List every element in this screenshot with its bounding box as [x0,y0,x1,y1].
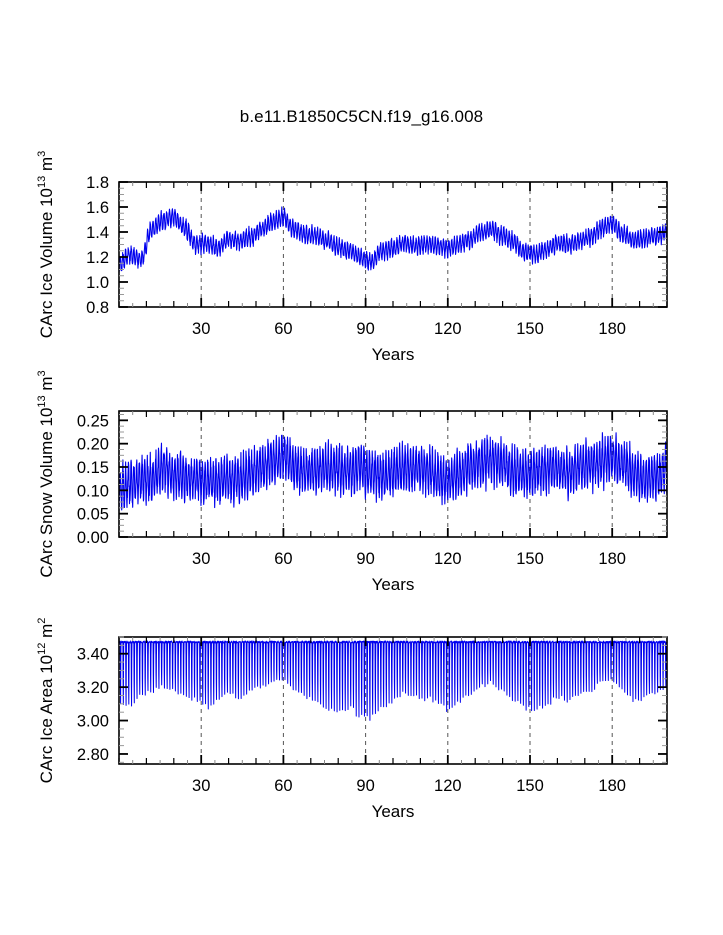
yaxis-title-text-1: CArc Ice Volume 1013 m3 [36,151,56,339]
ytick-label-2: 0.10 [77,482,109,500]
xtick-label-30: 30 [192,550,210,568]
ylabel-exponent-3: 12 [36,643,48,655]
ytick-label-2: 1.2 [86,249,109,267]
panel-2: 306090120150180Years0.000.050.100.150.20… [36,370,667,594]
ytick-label-0: 2.80 [77,746,109,764]
ytick-label-1: 3.00 [77,713,109,731]
ytick-label-5: 1.8 [86,174,109,192]
figure-root: b.e11.B1850C5CN.f19_g16.008 306090120150… [0,0,723,935]
ytick-label-5: 0.25 [77,412,109,430]
ylabel-unit-1: m [37,157,56,176]
xtick-label-30: 30 [192,777,210,795]
ylabel-exponent-2: 13 [36,395,48,407]
xtick-label-150: 150 [516,550,544,568]
panel-1: 306090120150180Years0.81.01.21.41.61.8CA… [36,151,667,364]
xtick-label-90: 90 [356,550,374,568]
ytick-label-2: 3.20 [77,679,109,697]
ylabel-unit-exponent-2: 3 [36,370,48,376]
ylabel-unit-exponent-1: 3 [36,151,48,157]
yaxis-title-text-2: CArc Snow Volume 1013 m3 [36,370,56,577]
xtick-label-120: 120 [434,550,462,568]
yaxis-title-1: CArc Ice Volume 1013 m3 [36,151,56,339]
ylabel-unit-2: m [37,376,56,395]
panels-layer: 306090120150180Years0.81.01.21.41.61.8CA… [36,151,667,821]
ylabel-main-1: CArc Ice Volume 10 [37,188,56,338]
ylabel-unit-3: m [37,624,56,643]
ylabel-main-3: CArc Ice Area 10 [37,655,56,784]
xtick-label-90: 90 [356,320,374,338]
xaxis-title-1: Years [372,345,415,364]
xtick-label-120: 120 [434,777,462,795]
xaxis-title-3: Years [372,802,415,821]
ytick-label-3: 1.4 [86,224,109,242]
xtick-label-60: 60 [274,777,292,795]
xtick-label-150: 150 [516,320,544,338]
ylabel-main-2: CArc Snow Volume 10 [37,408,56,578]
ytick-label-3: 3.40 [77,646,109,664]
ytick-label-4: 0.20 [77,436,109,454]
ytick-label-3: 0.15 [77,459,109,477]
xtick-label-90: 90 [356,777,374,795]
xtick-label-120: 120 [434,320,462,338]
xtick-label-180: 180 [598,777,626,795]
xtick-label-180: 180 [598,550,626,568]
xtick-label-180: 180 [598,320,626,338]
yaxis-title-3: CArc Ice Area 1012 m2 [36,618,56,784]
plot-figure: 306090120150180Years0.81.01.21.41.61.8CA… [0,0,723,935]
xaxis-title-2: Years [372,575,415,594]
yaxis-title-text-3: CArc Ice Area 1012 m2 [36,618,56,784]
yaxis-title-2: CArc Snow Volume 1013 m3 [36,370,56,577]
xtick-label-150: 150 [516,777,544,795]
xtick-label-30: 30 [192,320,210,338]
panel-3: 306090120150180Years2.803.003.203.40CArc… [36,618,667,821]
xtick-label-60: 60 [274,320,292,338]
ylabel-unit-exponent-3: 2 [36,618,48,624]
ytick-label-1: 0.05 [77,506,109,524]
ytick-label-0: 0.8 [86,299,109,317]
ytick-label-0: 0.00 [77,529,109,547]
ylabel-exponent-1: 13 [36,176,48,188]
ytick-label-4: 1.6 [86,199,109,217]
xtick-label-60: 60 [274,550,292,568]
ytick-label-1: 1.0 [86,274,109,292]
